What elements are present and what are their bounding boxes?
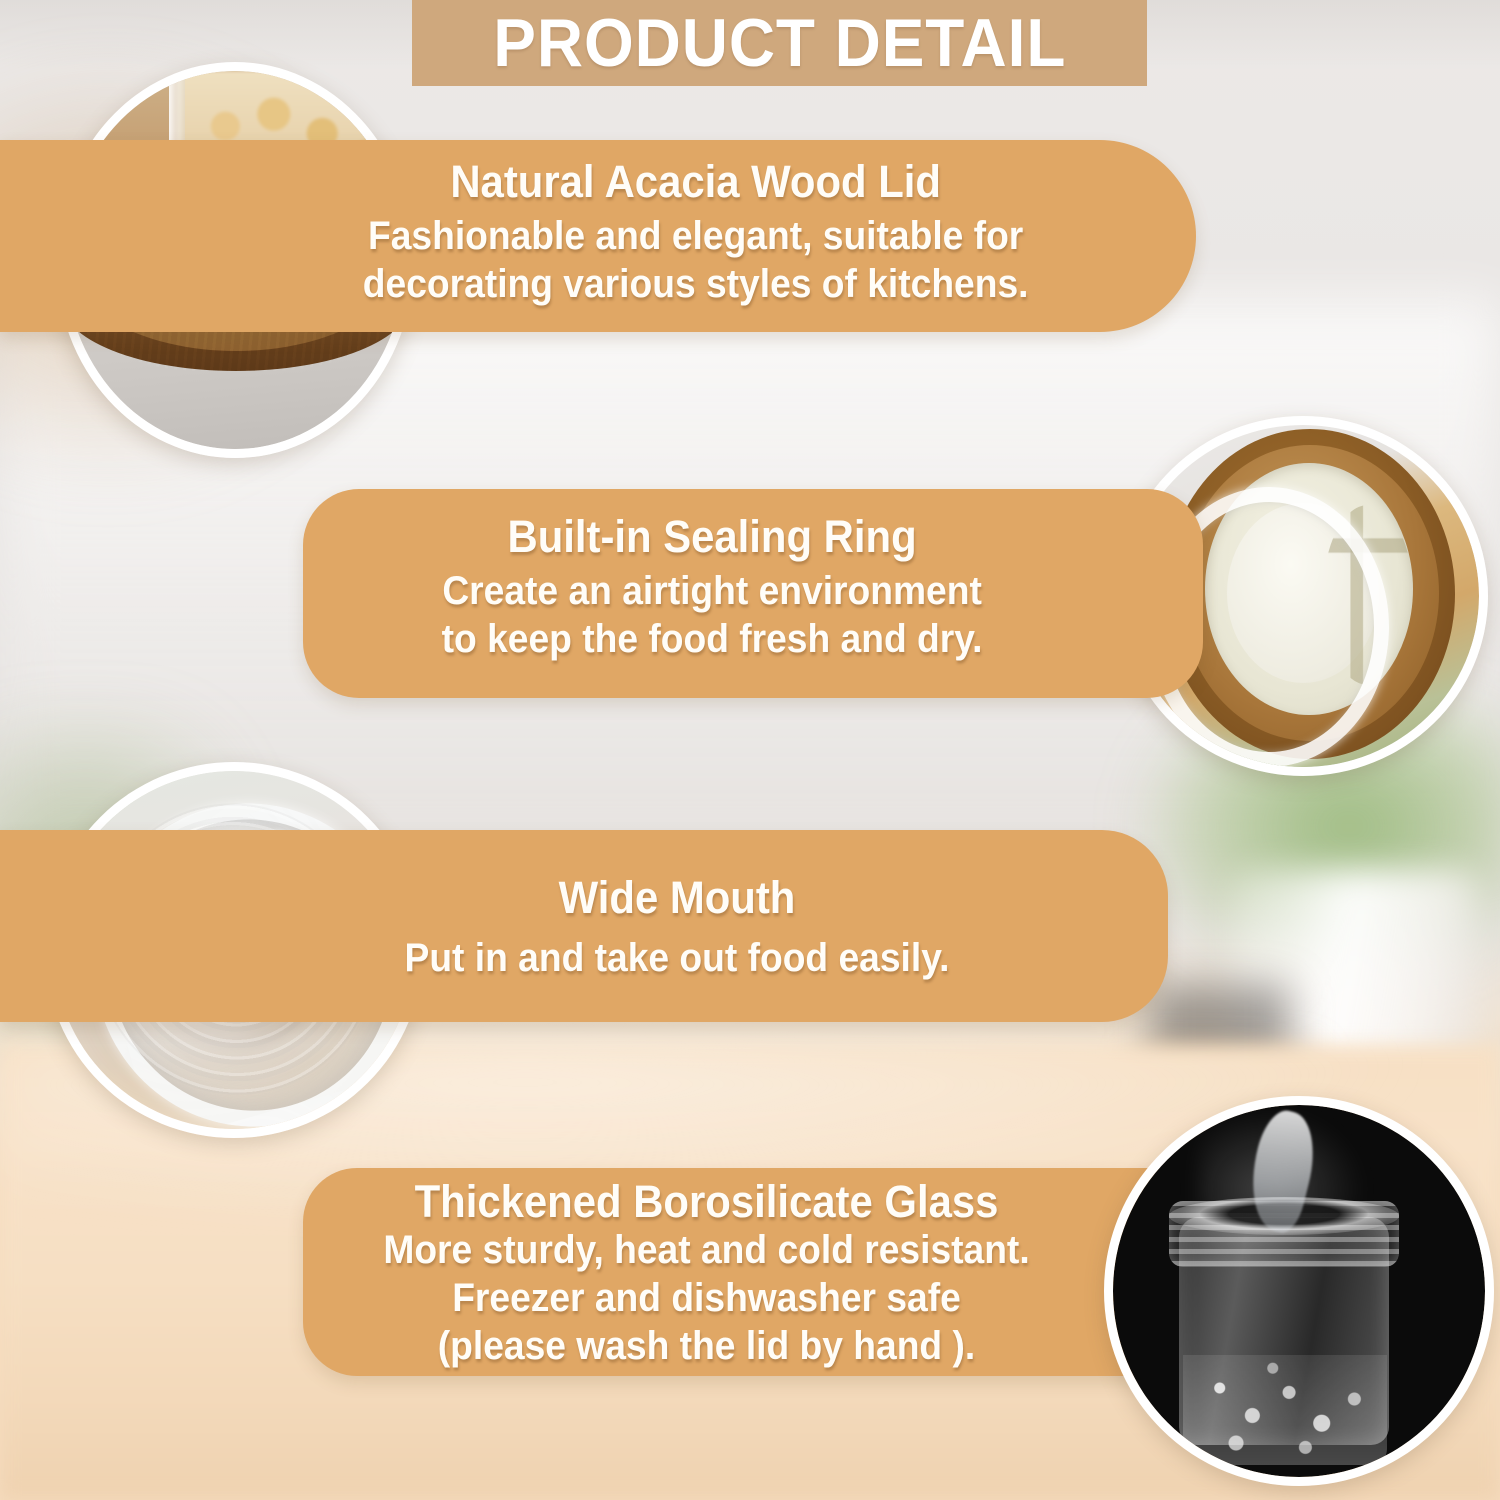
feature-desc-line-boro-1: More sturdy, heat and cold resistant.	[335, 1228, 1172, 1273]
water-bubbles	[1183, 1355, 1387, 1465]
feature-title-acacia-wood-lid: Natural Acacia Wood Lid	[42, 156, 1154, 208]
feature-title-wide-mouth: Wide Mouth	[41, 872, 1127, 924]
feature-desc-line-sealing-2: to keep the food fresh and dry.	[335, 617, 1172, 662]
feature-desc-line-boro-3: (please wash the lid by hand ).	[335, 1324, 1172, 1369]
feature-title-borosilicate-glass: Thickened Borosilicate Glass	[335, 1176, 1172, 1228]
page-title-bar: PRODUCT DETAIL	[412, 0, 1147, 86]
borosilicate-glass-jar-photo	[1104, 1096, 1494, 1486]
product-detail-infographic: Natural Acacia Wood Lid Fashionable and …	[0, 0, 1500, 1500]
feature-desc-line-boro-2: Freezer and dishwasher safe	[335, 1276, 1172, 1321]
feature-banner-wide-mouth: Wide Mouth Put in and take out food easi…	[0, 830, 1168, 1022]
feature-banner-borosilicate-glass: Thickened Borosilicate Glass More sturdy…	[303, 1168, 1203, 1376]
feature-desc-line-acacia-1: Fashionable and elegant, suitable for	[42, 214, 1154, 259]
feature-banner-sealing-ring: Built-in Sealing Ring Create an airtight…	[303, 489, 1203, 698]
feature-title-sealing-ring: Built-in Sealing Ring	[335, 511, 1172, 563]
feature-desc-line-wide-mouth-1: Put in and take out food easily.	[41, 936, 1127, 981]
feature-desc-line-acacia-2: decorating various styles of kitchens.	[42, 262, 1154, 307]
feature-desc-line-sealing-1: Create an airtight environment	[335, 569, 1172, 614]
page-title: PRODUCT DETAIL	[493, 4, 1066, 82]
feature-banner-acacia-wood-lid: Natural Acacia Wood Lid Fashionable and …	[0, 140, 1196, 332]
